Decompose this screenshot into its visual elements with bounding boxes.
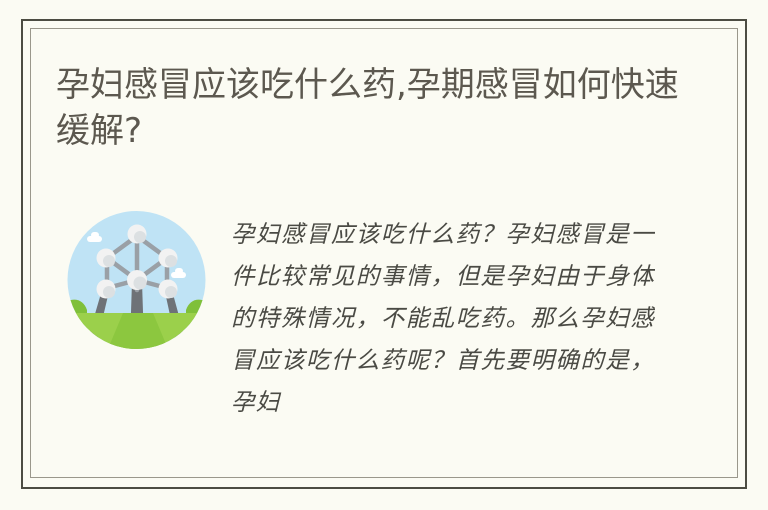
sphere-lower-left-shade (103, 286, 115, 298)
sphere-center-shade (134, 277, 147, 290)
badge-clipped-scene (67, 210, 206, 350)
sphere-top-shade (134, 231, 146, 243)
article-body-text: 孕妇感冒应该吃什么药？孕妇感冒是一件比较常见的事情，但是孕妇由于身体的特殊情况，… (231, 213, 655, 423)
article-card-page: 孕妇感冒应该吃什么药,孕期感冒如何快速缓解? (0, 0, 768, 510)
atomium-illustration-svg (67, 210, 206, 350)
sphere-upper-left-shade (103, 255, 115, 267)
cloud-icon (91, 232, 99, 238)
sphere-upper-right-shade (165, 255, 177, 267)
grass-hill-right (186, 300, 206, 350)
sphere-lower-right-shade (165, 286, 177, 298)
page-title: 孕妇感冒应该吃什么药,孕期感冒如何快速缓解? (56, 62, 696, 154)
cloud-icon (175, 268, 183, 274)
grass-hill-left (67, 300, 87, 350)
atomium-illustration (67, 210, 206, 350)
